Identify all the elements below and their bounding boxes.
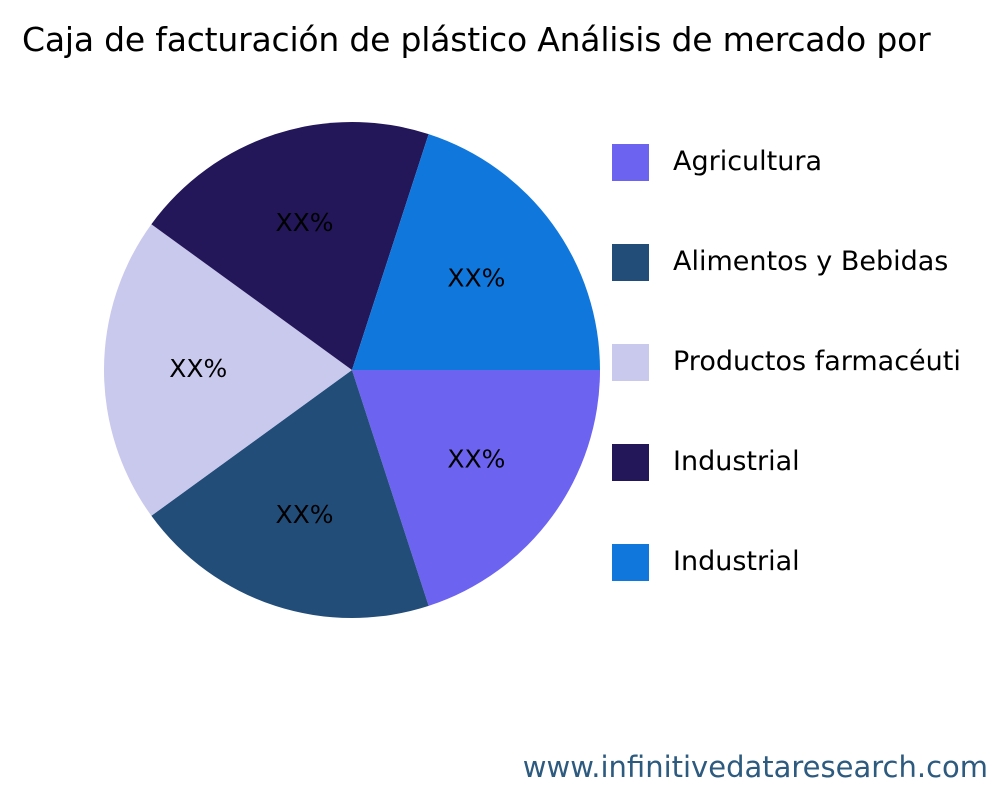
legend-color-swatch	[612, 244, 649, 281]
legend-item-label: Alimentos y Bebidas	[673, 246, 948, 278]
legend-item-label: Agricultura	[673, 146, 822, 178]
legend-item-label: Industrial	[673, 446, 800, 478]
legend-color-swatch	[612, 144, 649, 181]
legend-item-label: Productos farmacéuti	[673, 346, 961, 378]
legend-item[interactable]: Industrial	[612, 412, 1000, 512]
pie-slice-label: XX%	[275, 500, 333, 529]
pie-chart-plot-area: XX%XX%XX%XX%XX%	[0, 95, 620, 655]
pie-slice-label: XX%	[447, 444, 505, 473]
pie-slice-label: XX%	[447, 264, 505, 293]
chart-legend: AgriculturaAlimentos y BebidasProductos …	[612, 112, 1000, 612]
pie-slice-label: XX%	[275, 208, 333, 237]
pie-slice-label: XX%	[169, 354, 227, 383]
legend-item-label: Industrial	[673, 546, 800, 578]
legend-color-swatch	[612, 344, 649, 381]
legend-item[interactable]: Agricultura	[612, 112, 1000, 212]
legend-item[interactable]: Alimentos y Bebidas	[612, 212, 1000, 312]
legend-color-swatch	[612, 444, 649, 481]
pie-chart-svg: XX%XX%XX%XX%XX%	[0, 95, 620, 655]
page-title: Caja de facturación de plástico Análisis…	[22, 20, 1000, 60]
source-url: www.infinitivedataresearch.com	[523, 750, 988, 784]
legend-item[interactable]: Industrial	[612, 512, 1000, 612]
legend-item[interactable]: Productos farmacéuti	[612, 312, 1000, 412]
legend-color-swatch	[612, 544, 649, 581]
